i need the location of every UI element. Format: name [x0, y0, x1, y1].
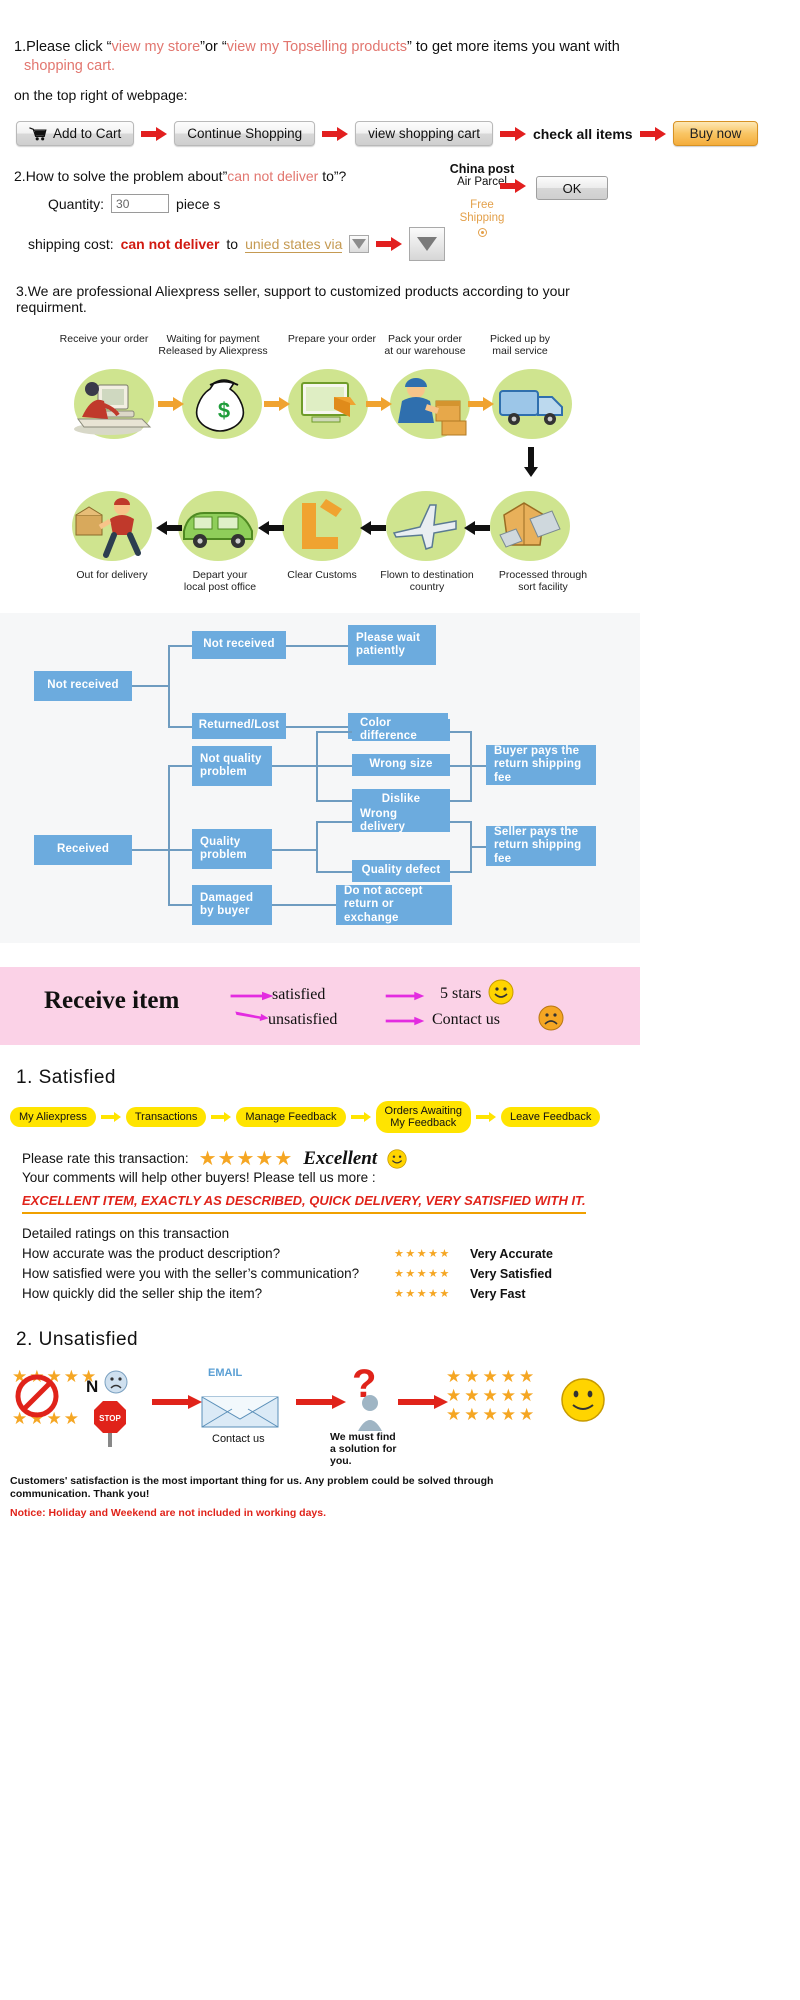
flow-line — [316, 765, 352, 767]
free-shipping-line1: Free — [422, 199, 542, 212]
smiley-neutral-icon — [560, 1377, 606, 1423]
s1-text-b: ”or “ — [200, 39, 227, 55]
airplane-icon — [390, 499, 464, 555]
process-label-sort-facility: Processed through sort facility — [478, 569, 608, 593]
continue-shopping-label: Continue Shopping — [187, 126, 302, 141]
arrow-right-icon — [500, 127, 526, 141]
add-to-cart-label: Add to Cart — [53, 126, 121, 141]
unsatisfied-label: unsatisfied — [268, 1011, 337, 1029]
flow-line — [132, 849, 170, 851]
arrow-right-icon — [398, 1395, 448, 1409]
detail-stars[interactable]: ★★★★★ — [394, 1265, 470, 1283]
flow-line — [450, 800, 472, 802]
shipping-to-label: to — [226, 236, 238, 252]
flow-line — [470, 765, 486, 767]
solution-caption: We must find a solution for you. — [330, 1431, 397, 1467]
process-label-picked-up: Picked up by mail service — [465, 333, 575, 357]
cart-button-flow: Add to Cart Continue Shopping view shopp… — [16, 121, 640, 146]
arrow-right-icon — [101, 1112, 121, 1122]
arrow-right-icon — [351, 1112, 371, 1122]
rate-transaction-label: Please rate this transaction: — [22, 1150, 189, 1168]
buy-now-label: Buy now — [690, 126, 742, 141]
flow-line — [168, 765, 192, 767]
page-root: 1.Please click “view my store”or “view m… — [0, 0, 640, 1520]
courier-running-icon — [74, 495, 154, 559]
arrow-left-icon — [156, 521, 182, 535]
flow-item-wrong-size: Wrong size — [352, 754, 450, 776]
detail-question: How satisfied were you with the seller’s… — [22, 1265, 394, 1283]
arrow-right-icon — [476, 1112, 496, 1122]
link-view-my-store[interactable]: view my store — [112, 39, 201, 55]
delivery-truck-icon — [496, 379, 570, 433]
return-policy-flowchart: Not received Not received Please wait pa… — [0, 613, 640, 943]
svg-text:$: $ — [218, 398, 230, 423]
heading-satisfied: 1. Satisfied — [16, 1067, 640, 1089]
footer-note: Customers' satisfaction is the most impo… — [10, 1475, 640, 1520]
smiley-worried-icon — [104, 1369, 128, 1395]
smiley-sad-icon — [538, 1005, 564, 1031]
flow-line — [132, 685, 170, 687]
shipping-cost-red: can not deliver — [121, 236, 220, 252]
smiley-happy-icon — [488, 979, 514, 1005]
envelope-icon — [198, 1381, 282, 1431]
chevron-down-icon — [352, 239, 366, 249]
flow-result-no-return: Do not accept return or exchange — [336, 885, 452, 925]
flow-line — [316, 731, 352, 733]
comment-text[interactable]: EXCELLENT ITEM, EXACTLY AS DESCRIBED, QU… — [22, 1192, 586, 1214]
postal-van-icon — [180, 501, 258, 553]
flow-item-color-difference: Color difference — [352, 719, 450, 741]
shipping-cost-label: shipping cost: — [28, 236, 114, 252]
smiley-happy-icon — [387, 1149, 407, 1169]
flow-line — [450, 821, 472, 823]
worker-packing-icon — [392, 373, 472, 439]
no-label: N — [86, 1377, 98, 1397]
detail-question: How accurate was the product description… — [22, 1245, 394, 1263]
add-to-cart-button[interactable]: Add to Cart — [16, 121, 134, 146]
detail-question: How quickly did the seller ship the item… — [22, 1285, 394, 1303]
arrow-right-icon — [468, 397, 494, 411]
arrow-right-icon — [152, 1395, 202, 1409]
flow-line — [168, 849, 192, 851]
flow-line — [286, 645, 348, 647]
computer-box-icon — [296, 379, 362, 433]
chain-transactions[interactable]: Transactions — [126, 1107, 207, 1127]
arrow-right-icon — [322, 127, 348, 141]
destination-dropdown[interactable] — [349, 235, 369, 253]
quantity-input[interactable]: 30 — [111, 194, 169, 213]
flow-line — [450, 731, 472, 733]
flow-root-not-received: Not received — [34, 671, 132, 701]
flow-line — [272, 904, 336, 906]
flow-result-buyer-pays: Buyer pays the return shipping fee — [486, 745, 596, 785]
flow-line — [272, 849, 318, 851]
footer-notice: Notice: Holiday and Weekend are not incl… — [10, 1507, 640, 1520]
question-person-icon: ? — [330, 1363, 400, 1433]
arrow-right-icon — [264, 397, 290, 411]
contact-us-caption: Contact us — [212, 1433, 265, 1445]
detail-value: Very Fast — [470, 1285, 526, 1303]
footer-line-2: communication. Thank you! — [10, 1488, 640, 1501]
arrow-right-icon — [376, 237, 402, 251]
arrow-right-icon — [378, 1016, 432, 1026]
chain-orders-awaiting[interactable]: Orders Awaiting My Feedback — [376, 1101, 471, 1133]
money-bag-icon: $ — [186, 373, 262, 439]
chain-manage-feedback[interactable]: Manage Feedback — [236, 1107, 345, 1127]
svg-text:STOP: STOP — [99, 1414, 121, 1423]
section-3-text: We are professional Aliexpress seller, s… — [16, 283, 570, 315]
carrier-info: China post Air Parcel Free Shipping — [422, 162, 542, 237]
comments-prompt: Your comments will help other buyers! Pl… — [22, 1169, 640, 1187]
process-label-waiting-payment: Waiting for payment Released by Aliexpre… — [148, 333, 278, 357]
free-shipping-option[interactable]: Free Shipping — [422, 199, 542, 237]
quantity-unit-label: piece s — [176, 196, 220, 212]
continue-shopping-button[interactable]: Continue Shopping — [174, 121, 315, 146]
flow-item-quality-defect: Quality defect — [352, 860, 450, 882]
arrow-right-icon — [640, 127, 666, 141]
customs-inspection-icon — [292, 495, 352, 557]
s1-text-a: Please click “ — [26, 39, 111, 55]
flow-line — [286, 726, 348, 728]
rating-stars[interactable]: ★★★★★ — [199, 1150, 294, 1168]
stop-sign-icon: STOP — [92, 1399, 128, 1447]
heading-unsatisfied: 2. Unsatisfied — [16, 1329, 640, 1351]
s2-title-b: to”? — [318, 168, 346, 184]
detail-rating-row: How satisfied were you with the seller’s… — [22, 1265, 640, 1283]
section-1: 1.Please click “view my store”or “view m… — [0, 0, 640, 103]
arrow-left-icon — [258, 521, 284, 535]
flow-node-returned-lost: Returned/Lost — [192, 713, 286, 739]
process-label-out-for-delivery: Out for delivery — [52, 569, 172, 581]
flow-line — [316, 821, 352, 823]
email-label: EMAIL — [208, 1367, 242, 1379]
unsatisfied-flow: ★★★★★ ★★★★ N STOP EMAIL Contact us — [0, 1359, 640, 1469]
satisfied-label: satisfied — [272, 986, 325, 1004]
arrow-right-icon — [500, 179, 526, 193]
arrow-right-icon — [366, 397, 392, 411]
arrow-left-icon — [464, 521, 490, 535]
chain-my-aliexpress[interactable]: My Aliexpress — [10, 1107, 96, 1127]
section-1-subtitle: on the top right of webpage: — [14, 87, 640, 103]
detail-rating-row: How quickly did the seller ship the item… — [22, 1285, 640, 1303]
flow-line — [470, 846, 486, 848]
link-view-topselling[interactable]: view my Topselling products — [227, 39, 407, 55]
five-stars-label: 5 stars — [440, 985, 481, 1003]
section-3-number: 3. — [16, 283, 28, 299]
s2-title-red: can not deliver — [227, 168, 318, 184]
free-shipping-line2: Shipping — [422, 212, 542, 225]
flow-line — [272, 765, 318, 767]
section-1-number: 1. — [14, 39, 26, 55]
flow-result-please-wait: Please wait patiently — [348, 625, 436, 665]
section-2-number: 2. — [14, 168, 26, 184]
receive-item-title: Receive item — [44, 987, 179, 1015]
destination-select-label[interactable]: unied states via — [245, 236, 342, 253]
view-shopping-cart-button[interactable]: view shopping cart — [355, 121, 493, 146]
flow-result-seller-pays: Seller pays the return shipping fee — [486, 826, 596, 866]
flow-line — [168, 904, 192, 906]
shipping-process-diagram: Receive your order Waiting for payment R… — [0, 329, 640, 599]
detail-value: Very Satisfied — [470, 1265, 552, 1283]
flow-line — [450, 765, 472, 767]
no-entry-icon — [14, 1373, 60, 1419]
process-label-flown-destination: Flown to destination country — [362, 569, 492, 593]
rating-word: Excellent — [303, 1150, 377, 1168]
flow-node-not-received: Not received — [192, 631, 286, 659]
detail-rating-row: How accurate was the product description… — [22, 1245, 640, 1263]
section-1-text: 1.Please click “view my store”or “view m… — [14, 38, 640, 76]
chevron-down-icon — [417, 237, 437, 251]
arrow-right-icon — [141, 127, 167, 141]
quantity-label: Quantity: — [48, 196, 104, 212]
flow-node-not-quality-problem: Not quality problem — [192, 746, 272, 786]
flow-node-quality-problem: Quality problem — [192, 829, 272, 869]
flow-line — [316, 821, 318, 873]
chain-leave-feedback[interactable]: Leave Feedback — [501, 1107, 600, 1127]
arrow-right-icon — [211, 1112, 231, 1122]
flow-line — [168, 726, 192, 728]
carrier-name: China post — [422, 162, 542, 176]
ok-button[interactable]: OK — [536, 176, 608, 200]
contact-us-label: Contact us — [432, 1011, 500, 1029]
footer-line-1: Customers' satisfaction is the most impo… — [10, 1475, 640, 1488]
section-2: 2.How to solve the problem about”can not… — [14, 168, 640, 261]
flow-root-received: Received — [34, 835, 132, 865]
sort-facility-icon — [494, 495, 566, 557]
receive-item-banner: Receive item satisfied unsatisfied 5 sta… — [0, 967, 640, 1045]
arrow-left-icon — [360, 521, 386, 535]
s2-title-a: How to solve the problem about” — [26, 168, 228, 184]
flow-item-wrong-delivery: Wrong delivery — [352, 810, 450, 832]
check-all-items-label: check all items — [533, 126, 633, 142]
arrow-right-icon — [158, 397, 184, 411]
detailed-ratings-heading: Detailed ratings on this transaction — [22, 1225, 640, 1243]
flow-line — [316, 800, 352, 802]
star-grid: ★★★★★★★★★★★★★★★ — [446, 1367, 537, 1424]
detail-stars[interactable]: ★★★★★ — [394, 1245, 470, 1263]
view-shopping-cart-label: view shopping cart — [368, 126, 480, 141]
shipping-row: shipping cost:can not deliver to unied s… — [28, 227, 640, 261]
flow-line — [168, 645, 192, 647]
flow-line — [316, 871, 352, 873]
arrow-down-icon — [524, 447, 538, 477]
cart-icon — [29, 127, 47, 141]
flow-line — [168, 765, 170, 905]
customer-at-computer-icon — [72, 375, 158, 437]
flow-line — [168, 645, 170, 727]
buy-now-button[interactable]: Buy now — [673, 121, 759, 146]
rating-block: Please rate this transaction: ★★★★★ Exce… — [22, 1149, 640, 1303]
section-3: 3.We are professional Aliexpress seller,… — [16, 283, 640, 315]
detail-value: Very Accurate — [470, 1245, 553, 1263]
feedback-navigation-chain: My Aliexpress Transactions Manage Feedba… — [10, 1101, 640, 1133]
link-shopping-cart[interactable]: shopping cart. — [24, 58, 115, 74]
s1-text-c: ” to get more items you want with — [407, 39, 620, 55]
free-shipping-radio[interactable] — [478, 228, 487, 237]
flow-node-damaged-by-buyer: Damaged by buyer — [192, 885, 272, 925]
arrow-right-icon — [378, 991, 432, 1001]
process-label-receive-order: Receive your order — [44, 333, 164, 345]
detail-stars[interactable]: ★★★★★ — [394, 1285, 470, 1303]
flow-line — [450, 871, 472, 873]
